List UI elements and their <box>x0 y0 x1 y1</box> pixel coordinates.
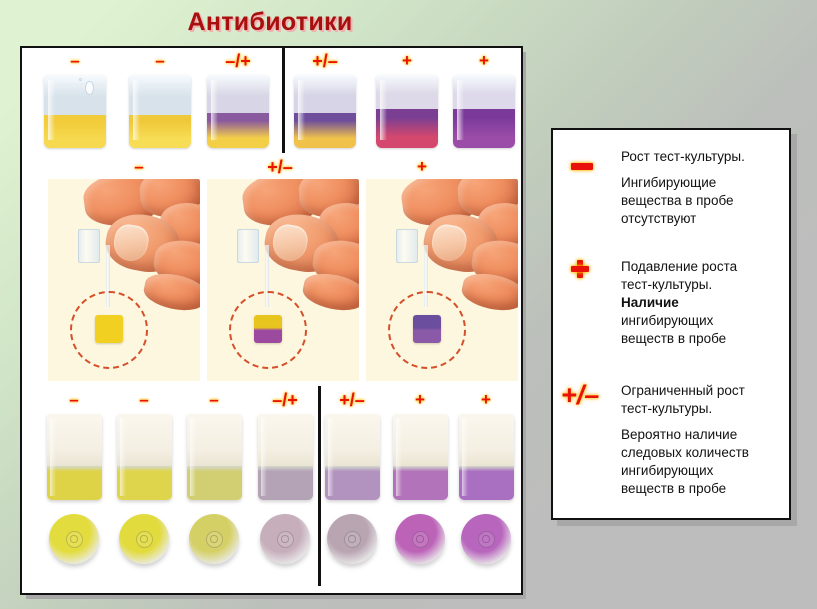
middle-row-label-1: +/– <box>267 156 293 178</box>
disc-ring <box>478 531 495 548</box>
main-panel: –––/++/–++ –+/–+ ––––/++/–++ <box>20 46 523 595</box>
vial-gloss <box>211 80 218 140</box>
hand-photo-2 <box>366 179 518 381</box>
plus-glyph <box>571 260 589 278</box>
hand-photo-1 <box>207 179 359 381</box>
bottom-row-vial-3 <box>258 414 313 500</box>
bottom-row-vial-5 <box>393 414 448 500</box>
bottom-row-disc-2 <box>189 514 239 564</box>
top-row-vial-1 <box>129 75 191 148</box>
bottom-row-vial-4 <box>325 414 380 500</box>
reaction-tip <box>95 315 123 343</box>
vial-gloss <box>462 418 468 496</box>
legend-item-2-line-1: тест-культуры. <box>621 400 781 418</box>
top-row-vial-4 <box>376 75 438 148</box>
bottom-row-vial-2 <box>187 414 242 500</box>
bottom-row-label-1: – <box>139 389 148 411</box>
top-row-label-4: + <box>402 50 412 72</box>
bottom-row-disc-0 <box>49 514 99 564</box>
legend-item-0-line-2: вещества в пробе <box>621 192 781 210</box>
disc-center <box>140 535 147 542</box>
bottom-row-disc-1 <box>119 514 169 564</box>
disc-ring <box>412 531 429 548</box>
middle-row-label-2: + <box>417 156 427 178</box>
bottom-row-labels: ––––/++/–++ <box>22 389 521 411</box>
disc-center <box>70 535 77 542</box>
top-row-label-1: – <box>155 50 164 72</box>
bottom-row-label-6: + <box>481 389 491 411</box>
top-row-label-3: +/– <box>312 50 338 72</box>
vial-gloss <box>328 418 334 496</box>
bottom-row-label-3: –/+ <box>272 389 298 411</box>
legend-item-2-line-2: Вероятно наличие <box>621 426 781 444</box>
page-title: Антибиотики <box>0 8 540 37</box>
top-row-divider <box>282 48 285 153</box>
middle-row-labels: –+/–+ <box>22 156 521 178</box>
legend-item-1-line-4: веществ в пробе <box>621 330 781 348</box>
legend-item-0-line-0: Рост тест-культуры. <box>621 148 781 166</box>
top-row-vial-3 <box>294 75 356 148</box>
top-row-label-2: –/+ <box>225 50 251 72</box>
hand-photo-0 <box>48 179 200 381</box>
test-tube-body <box>78 229 100 263</box>
disc-ring <box>344 531 361 548</box>
top-row-vial-5 <box>453 75 515 148</box>
legend-item-2-line-4: ингибирующих <box>621 462 781 480</box>
bottom-row-disc-4 <box>327 514 377 564</box>
vial-bubble <box>85 81 94 95</box>
middle-row-label-0: – <box>134 156 143 178</box>
top-row-vial-0 <box>44 75 106 148</box>
disc-center <box>416 535 423 542</box>
test-tube-body <box>237 229 259 263</box>
bottom-row-label-4: +/– <box>339 389 365 411</box>
middle-row-photos <box>22 179 521 381</box>
minus-icon <box>571 158 593 174</box>
legend-item-1-line-2: Наличие <box>621 294 781 312</box>
legend-item-0-line-1: Ингибирующие <box>621 174 781 192</box>
bottom-row-disc-5 <box>395 514 445 564</box>
vial-gloss <box>396 418 402 496</box>
legend-panel: Рост тест-культуры.Ингибирующиевещества … <box>551 128 791 520</box>
bottom-row-label-5: + <box>415 389 425 411</box>
disc-center <box>348 535 355 542</box>
vial-gloss <box>48 80 55 140</box>
test-tube-body <box>396 229 418 263</box>
bottom-row-vial-0 <box>47 414 102 500</box>
top-row-vial-2 <box>207 75 269 148</box>
legend-item-1-line-0: Подавление роста <box>621 258 781 276</box>
bottom-row-label-0: – <box>69 389 78 411</box>
bottom-row-disc-3 <box>260 514 310 564</box>
legend-item-1-line-1: тест-культуры. <box>621 276 781 294</box>
disc-center <box>482 535 489 542</box>
vial-bubble-small <box>79 78 82 81</box>
disc-center <box>210 535 217 542</box>
top-row-label-5: + <box>479 50 489 72</box>
legend-item-0-line-3: отсутствуют <box>621 210 781 228</box>
vial-gloss <box>261 418 267 496</box>
bottom-row-disc-6 <box>461 514 511 564</box>
vial-gloss <box>133 80 140 140</box>
vial-gloss <box>50 418 56 496</box>
disc-ring <box>136 531 153 548</box>
disc-ring <box>206 531 223 548</box>
legend-item-2-line-5: веществ в пробе <box>621 480 781 498</box>
disc-ring <box>66 531 83 548</box>
plus-minus-icon: +/– <box>561 382 599 409</box>
bottom-row-vial-1 <box>117 414 172 500</box>
reaction-tip <box>254 315 282 343</box>
reaction-tip <box>413 315 441 343</box>
top-row-label-0: – <box>70 50 79 72</box>
vial-gloss <box>457 80 464 140</box>
vial-gloss <box>298 80 305 140</box>
legend-item-2-line-0: Ограниченный рост <box>621 382 781 400</box>
top-row-labels: –––/++/–++ <box>22 50 521 72</box>
disc-center <box>281 535 288 542</box>
vial-gloss <box>190 418 196 496</box>
bottom-row-vial-6 <box>459 414 514 500</box>
plus-icon <box>571 260 589 282</box>
minus-glyph <box>571 163 593 170</box>
vial-gloss <box>120 418 126 496</box>
legend-item-2-line-3: следовых количеств <box>621 444 781 462</box>
disc-ring <box>277 531 294 548</box>
vial-gloss <box>380 80 387 140</box>
legend-item-1-line-3: ингибирующих <box>621 312 781 330</box>
bottom-row-divider <box>318 386 321 586</box>
bottom-row-label-2: – <box>209 389 218 411</box>
